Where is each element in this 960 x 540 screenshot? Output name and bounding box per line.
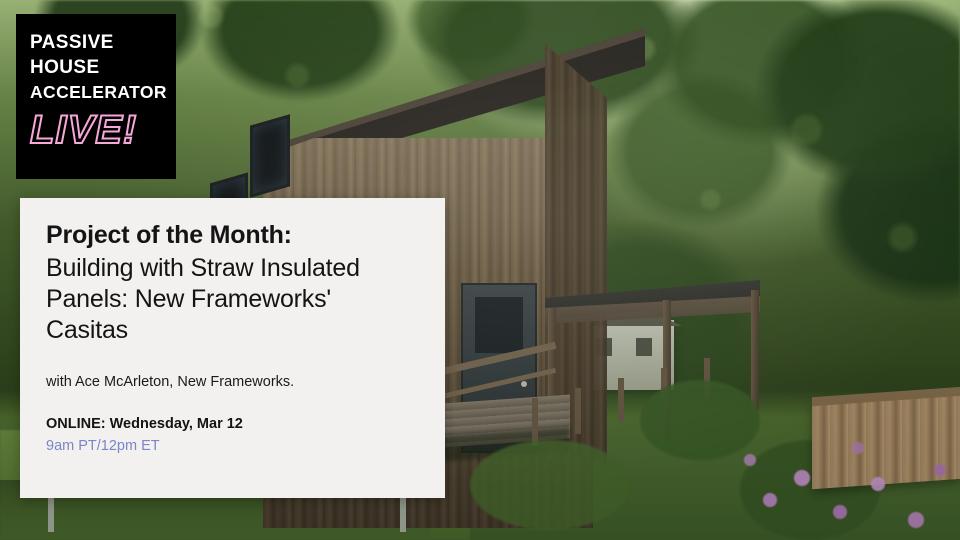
sign-leg: [48, 496, 54, 532]
promo-graphic: PASSIVE HOUSE ACCELERATOR LIVE! Project …: [0, 0, 960, 540]
logo-line-house: HOUSE: [30, 55, 164, 80]
panel-date: ONLINE: Wednesday, Mar 12: [46, 414, 419, 435]
panel-time: 9am PT/12pm ET: [46, 436, 419, 457]
event-info-panel: Project of the Month: Building with Stra…: [20, 198, 445, 498]
logo-line-passive: PASSIVE: [30, 30, 164, 55]
passive-house-accelerator-logo: PASSIVE HOUSE ACCELERATOR LIVE!: [16, 14, 176, 179]
logo-line-accelerator: ACCELERATOR: [30, 80, 164, 105]
panel-presenter: with Ace McArleton, New Frameworks.: [46, 372, 419, 392]
logo-live-wordmark: LIVE!: [30, 109, 164, 151]
panel-title: Building with Straw Insulated Panels: Ne…: [46, 253, 419, 346]
sign-leg: [400, 496, 406, 532]
panel-eyebrow: Project of the Month:: [46, 220, 419, 251]
